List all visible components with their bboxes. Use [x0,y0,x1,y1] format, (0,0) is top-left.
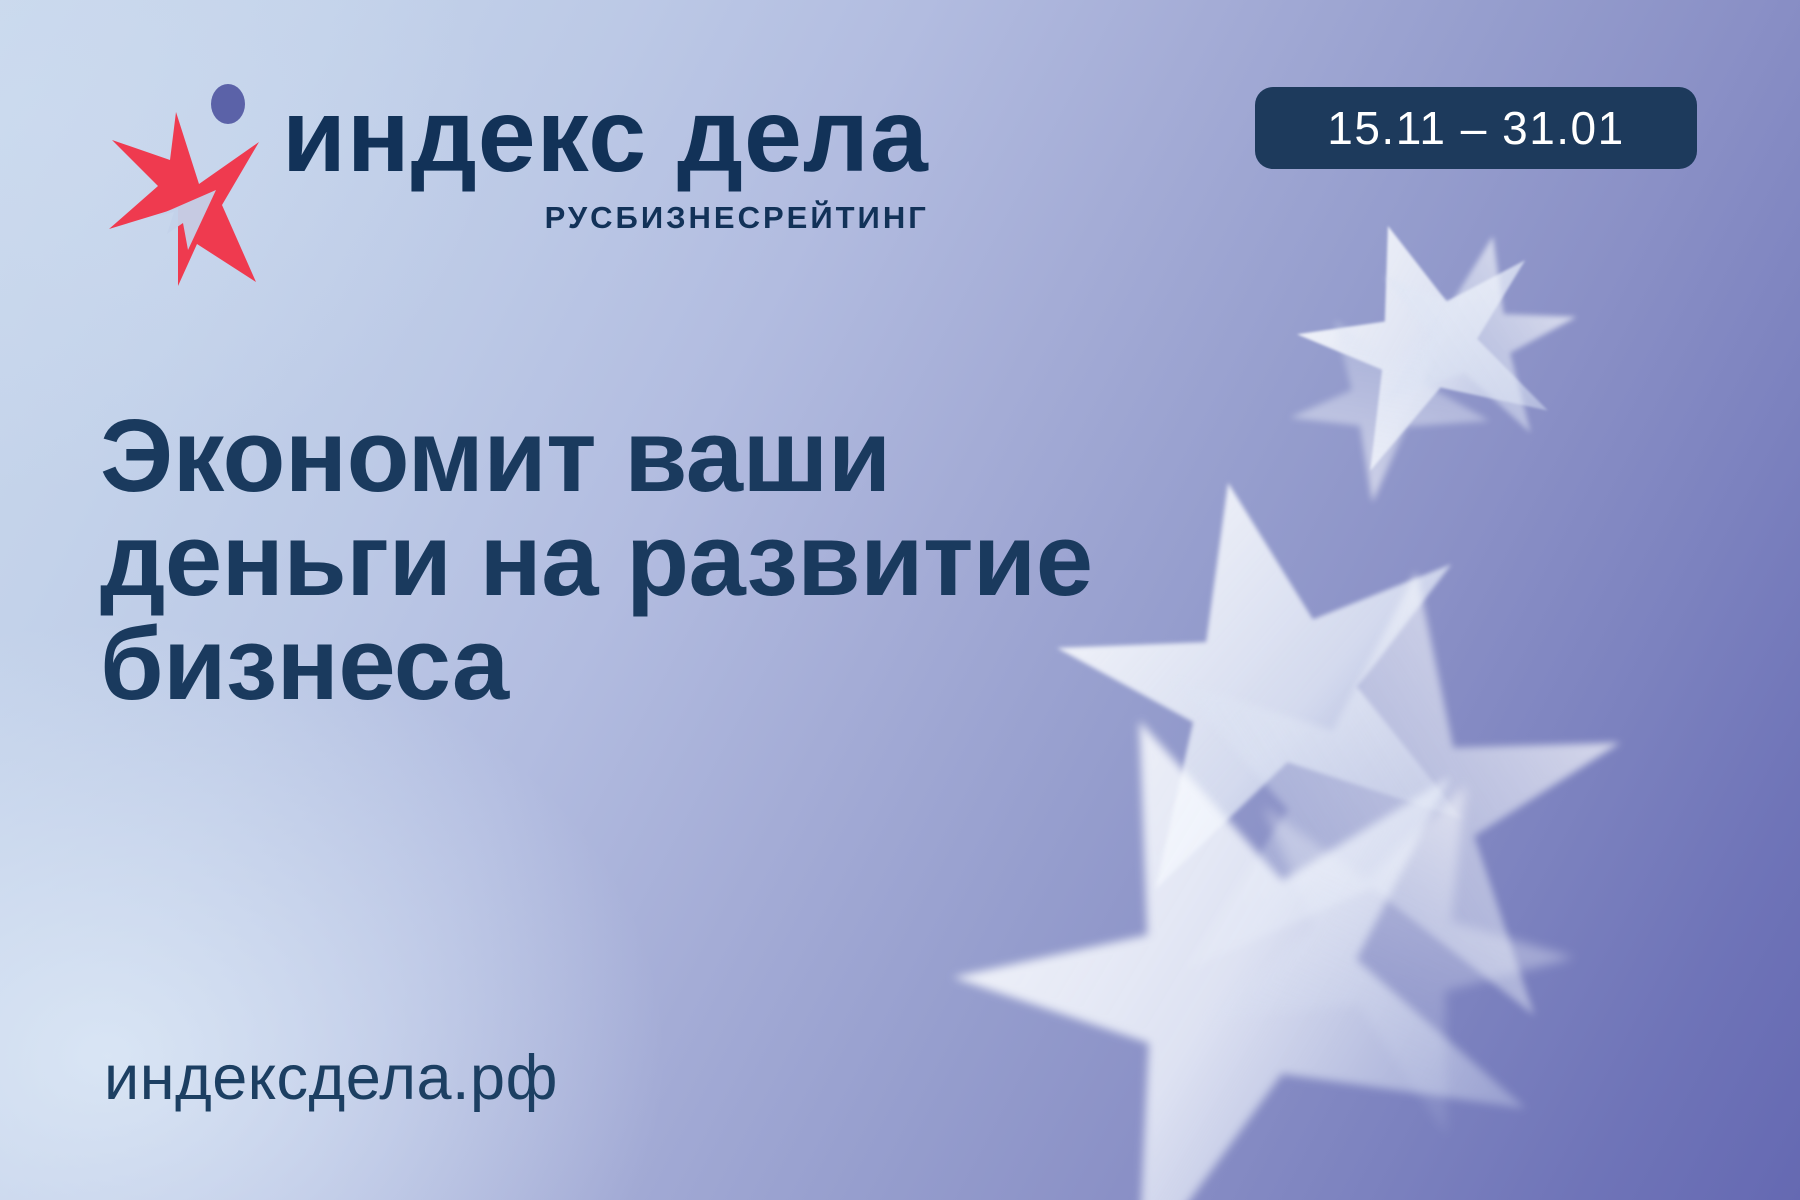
date-range-badge: 15.11 – 31.01 [1255,87,1697,169]
star-burst-shape [1351,211,1594,454]
promo-banner: индекс дела РУСБИЗНЕСРЕЙТИНГ 15.11 – 31.… [0,0,1800,1200]
headline-line-1: Экономит ваши [100,404,1280,508]
star-burst-shape [1267,182,1582,497]
headline-line-2: деньги на развитие [100,508,1280,612]
logo-text-group: индекс дела РУСБИЗНЕСРЕЙТИНГ [282,78,929,236]
star-burst-shape [1149,699,1630,1180]
brand-logo[interactable]: индекс дела РУСБИЗНЕСРЕЙТИНГ [104,78,929,286]
star-logo-icon [104,78,264,286]
headline: Экономит ваши деньги на развитие бизнеса [100,404,1280,716]
website-url[interactable]: индексдела.рф [104,1042,558,1114]
headline-line-3: бизнеса [100,612,1280,716]
star-burst-shape [1253,263,1517,527]
logo-dot [211,84,245,124]
date-range-text: 15.11 – 31.01 [1327,101,1624,155]
logo-subtitle: РУСБИЗНЕСРЕЙТИНГ [282,200,929,236]
logo-wordmark: индекс дела [282,84,929,188]
